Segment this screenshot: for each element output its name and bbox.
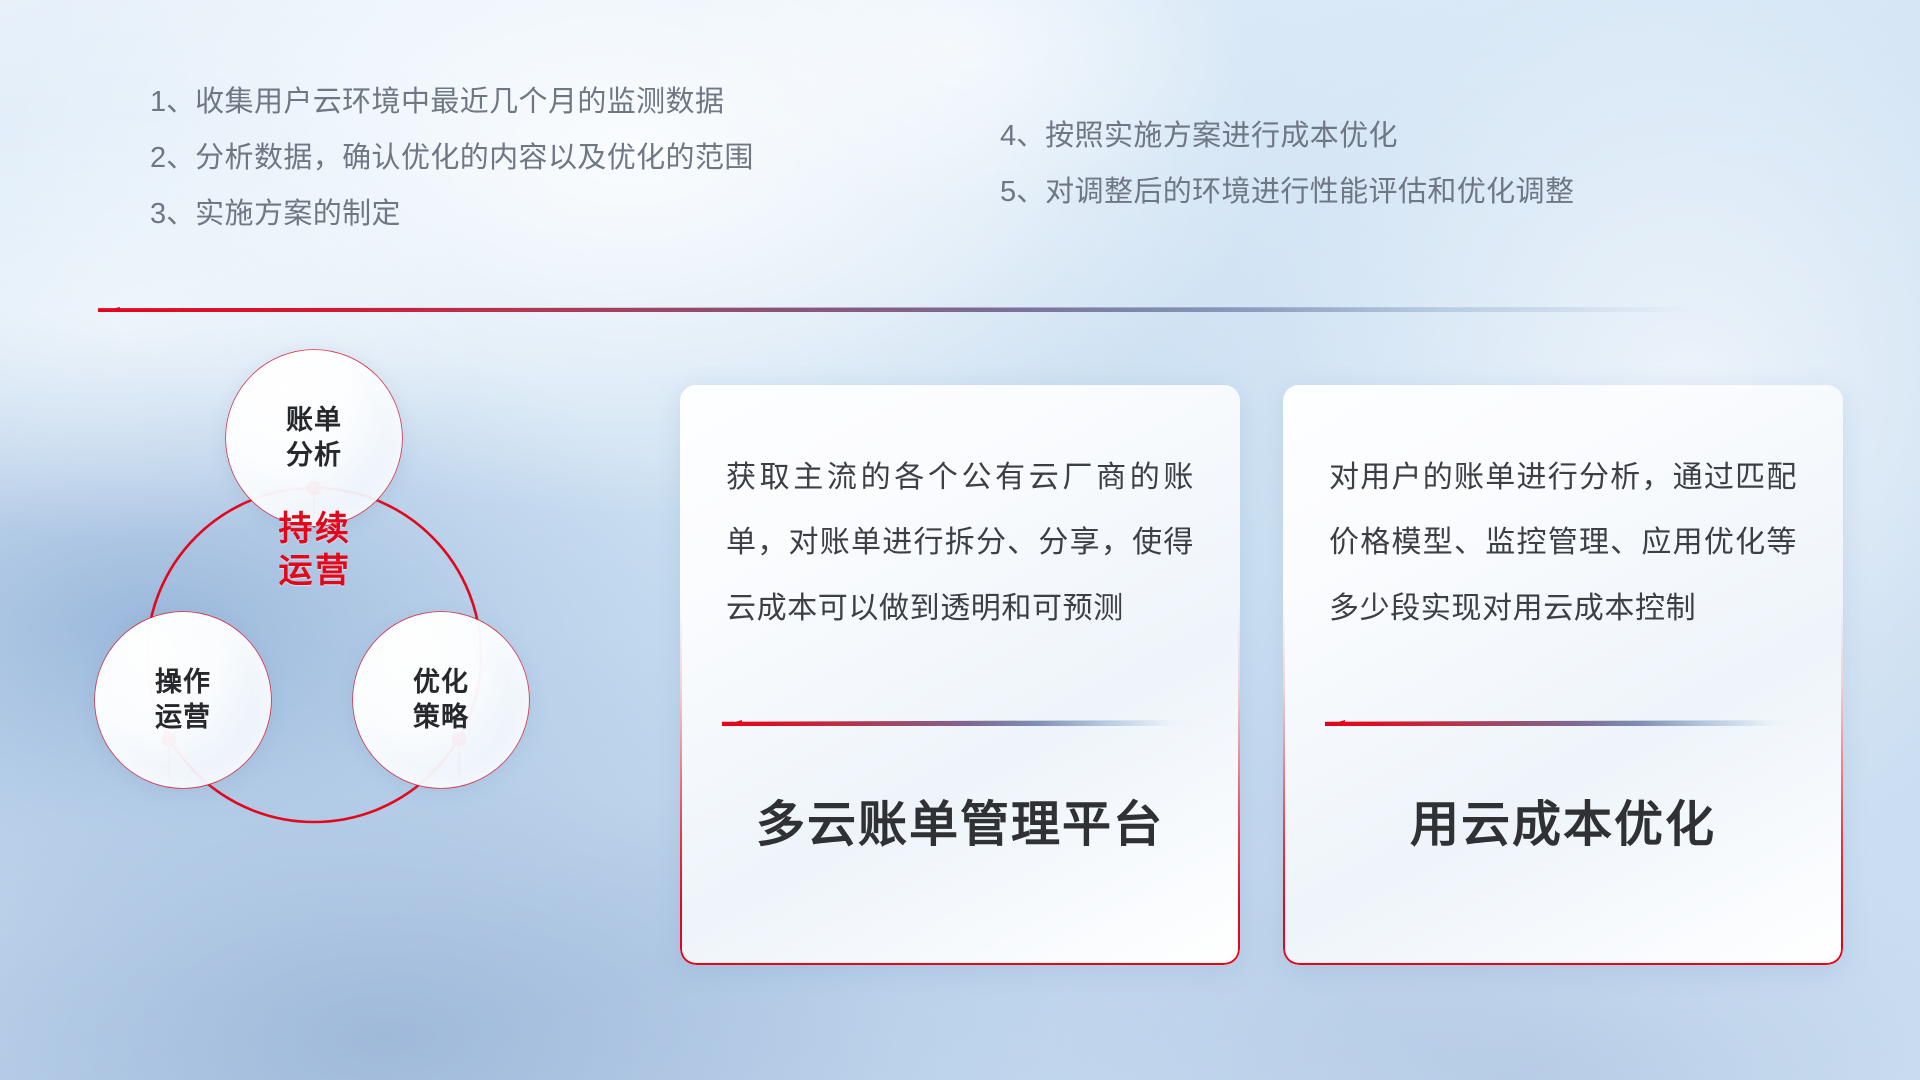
list-item-number: 2、: [150, 142, 195, 174]
steps-right-column: 4、按照实施方案进行成本优化 5、对调整后的环境进行性能评估和优化调整: [1000, 122, 1574, 234]
bubble-line-1: 优化: [413, 665, 469, 700]
list-item-number: 3、: [150, 198, 195, 230]
section-divider: [98, 305, 1698, 314]
list-item-label: 分析数据，确认优化的内容以及优化的范围: [195, 142, 754, 174]
card-description: 对用户的账单进行分析，通过匹配价格模型、监控管理、应用优化等多少段实现对用云成本…: [1329, 445, 1797, 641]
center-label-line-2: 运营: [230, 550, 400, 592]
card-title: 用云成本优化: [1283, 785, 1843, 856]
list-item-number: 5、: [1000, 176, 1045, 208]
diagram-bubble-billing-analysis[interactable]: 账单 分析: [226, 350, 402, 526]
list-item: 5、对调整后的环境进行性能评估和优化调整: [1000, 178, 1574, 207]
card-divider: [722, 719, 1198, 728]
divider-gradient-bar: [98, 307, 1698, 312]
bubble-line-2: 分析: [286, 438, 342, 473]
bubble-line-2: 运营: [155, 700, 211, 735]
list-item-label: 实施方案的制定: [195, 198, 401, 230]
bubble-line-1: 账单: [286, 403, 342, 438]
list-item-label: 对调整后的环境进行性能评估和优化调整: [1045, 176, 1574, 208]
list-item: 3、实施方案的制定: [150, 200, 754, 229]
list-item: 2、分析数据，确认优化的内容以及优化的范围: [150, 144, 754, 173]
bubble-line-1: 操作: [155, 665, 211, 700]
list-item-number: 4、: [1000, 120, 1045, 152]
card-title: 多云账单管理平台: [680, 785, 1240, 856]
diagram-bubble-optimization-strategy[interactable]: 优化 策略: [353, 612, 529, 788]
cycle-diagram: 账单 分析 操作 运营 优化 策略 持续 运营: [95, 350, 655, 950]
feature-card-cloud-cost-optimization[interactable]: 对用户的账单进行分析，通过匹配价格模型、监控管理、应用优化等多少段实现对用云成本…: [1283, 385, 1843, 965]
slide-canvas: 1、收集用户云环境中最近几个月的监测数据 2、分析数据，确认优化的内容以及优化的…: [0, 0, 1920, 1080]
list-item: 4、按照实施方案进行成本优化: [1000, 122, 1574, 151]
center-label-line-1: 持续: [230, 508, 400, 550]
list-item-label: 收集用户云环境中最近几个月的监测数据: [195, 86, 724, 118]
list-item-number: 1、: [150, 86, 195, 118]
bubble-line-2: 策略: [413, 700, 469, 735]
card-divider: [1325, 719, 1801, 728]
list-item: 1、收集用户云环境中最近几个月的监测数据: [150, 88, 754, 117]
diagram-center-label: 持续 运营: [230, 508, 400, 592]
card-description: 获取主流的各个公有云厂商的账单，对账单进行拆分、分享，使得云成本可以做到透明和可…: [726, 445, 1194, 641]
feature-card-multicloud-billing[interactable]: 获取主流的各个公有云厂商的账单，对账单进行拆分、分享，使得云成本可以做到透明和可…: [680, 385, 1240, 965]
list-item-label: 按照实施方案进行成本优化: [1045, 120, 1398, 152]
card-divider-gradient-bar: [722, 720, 1198, 726]
steps-left-column: 1、收集用户云环境中最近几个月的监测数据 2、分析数据，确认优化的内容以及优化的…: [150, 88, 754, 256]
diagram-bubble-operations[interactable]: 操作 运营: [95, 612, 271, 788]
card-divider-gradient-bar: [1325, 720, 1801, 726]
